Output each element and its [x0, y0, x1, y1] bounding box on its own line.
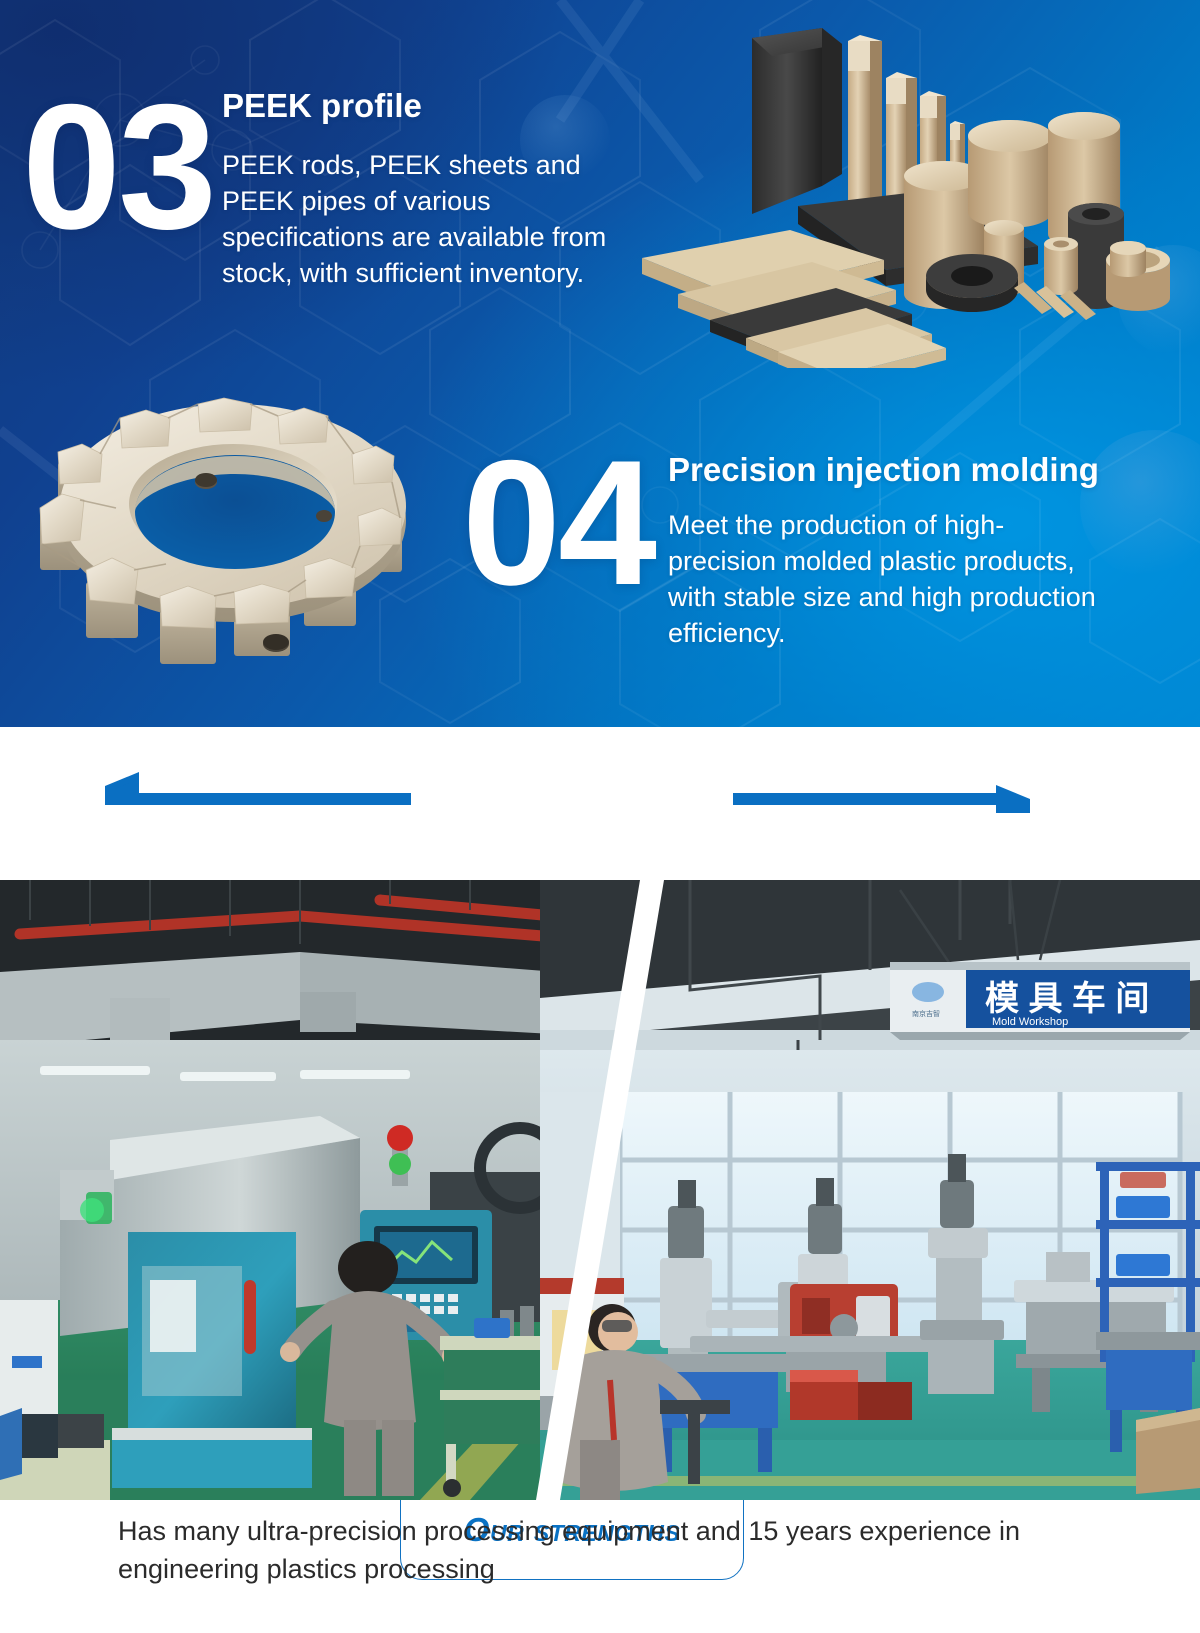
svg-text:Mold Workshop: Mold Workshop: [992, 1016, 1068, 1028]
block-title-04: Precision injection molding: [668, 452, 1099, 488]
block-number-03: 03: [22, 78, 214, 256]
hero-blue-panel: 03 PEEK profile PEEK rods, PEEK sheets a…: [0, 0, 1200, 727]
block-body-03: PEEK rods, PEEK sheets and PEEK pipes of…: [222, 148, 652, 292]
infographic-page: 03 PEEK profile PEEK rods, PEEK sheets a…: [0, 0, 1200, 1633]
our-strengths-banner: Our strengths: [0, 727, 1200, 880]
svg-text:南京吉智: 南京吉智: [912, 1009, 940, 1018]
bottom-caption: Has many ultra-precision processing equi…: [118, 1512, 1078, 1589]
mold-workshop-photo: 模 具 车 间 Mold Workshop 南京吉智: [540, 880, 1200, 1500]
svg-text:模 具 车 间: 模 具 车 间: [985, 980, 1149, 1018]
block-number-04: 04: [462, 434, 654, 612]
peek-rods-sheets-pipes-photo: [620, 8, 1200, 368]
peek-gear-ring-photo: [28, 388, 438, 683]
factory-photo-strip: 模 具 车 间 Mold Workshop 南京吉智: [0, 880, 1200, 1500]
double-arrow-divider: [0, 727, 1200, 880]
block-body-04: Meet the production of high-precision mo…: [668, 508, 1108, 652]
block-title-03: PEEK profile: [222, 88, 422, 124]
